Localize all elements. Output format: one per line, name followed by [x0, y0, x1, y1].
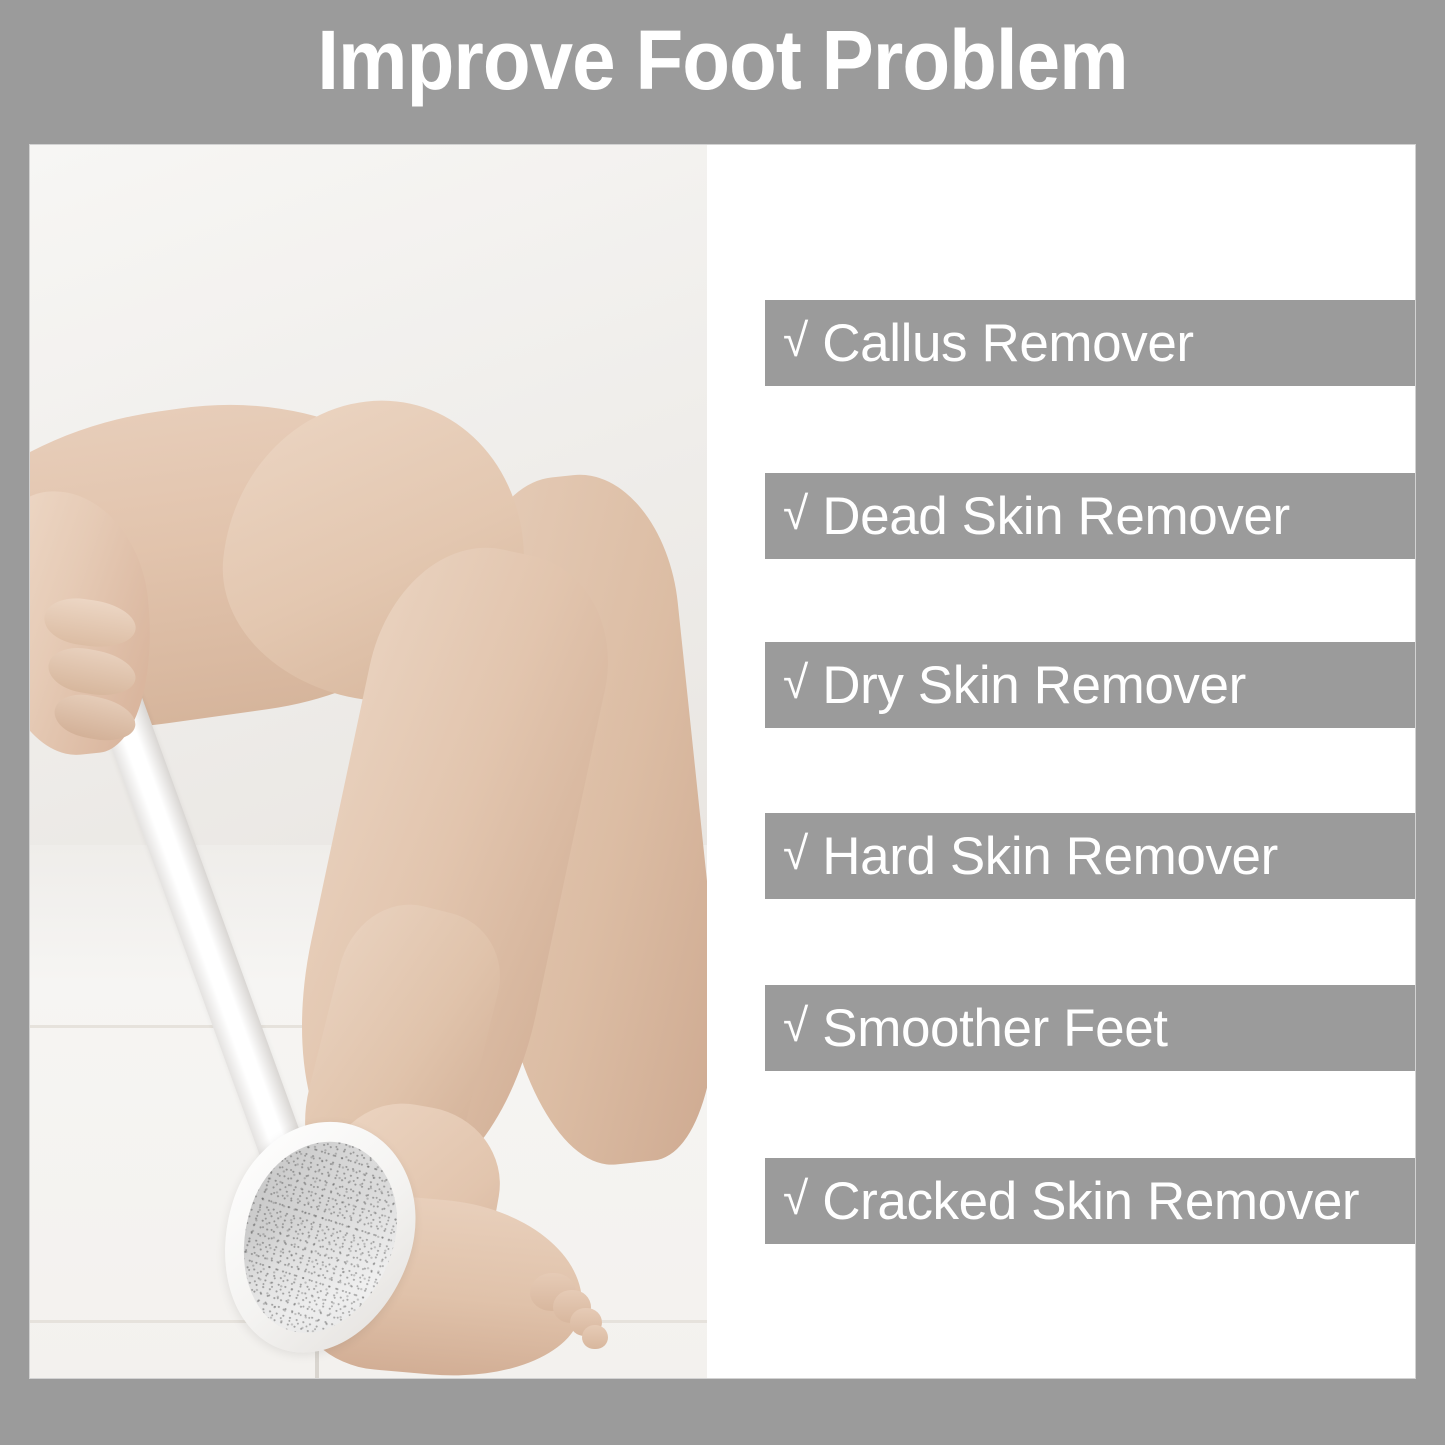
- content-card: √ Callus Remover √ Dead Skin Remover √ D…: [30, 145, 1415, 1378]
- feature-row-3[interactable]: √ Dry Skin Remover: [765, 642, 1415, 728]
- check-icon: √: [783, 1175, 808, 1221]
- feature-row-5[interactable]: √ Smoother Feet: [765, 985, 1415, 1071]
- toe: [582, 1325, 608, 1349]
- check-icon: √: [783, 1002, 808, 1048]
- product-photo: [30, 145, 707, 1378]
- feature-row-1[interactable]: √ Callus Remover: [765, 300, 1415, 386]
- feature-label: Smoother Feet: [822, 1002, 1167, 1055]
- check-icon: √: [783, 317, 808, 363]
- feature-row-6[interactable]: √ Cracked Skin Remover: [765, 1158, 1415, 1244]
- check-icon: √: [783, 490, 808, 536]
- infographic-page: Improve Foot Problem: [0, 0, 1445, 1445]
- feature-label: Hard Skin Remover: [822, 830, 1278, 883]
- check-icon: √: [783, 659, 808, 705]
- feature-label: Callus Remover: [822, 317, 1193, 370]
- feature-label: Dead Skin Remover: [822, 490, 1289, 543]
- feature-row-2[interactable]: √ Dead Skin Remover: [765, 473, 1415, 559]
- page-title: Improve Foot Problem: [51, 18, 1395, 102]
- check-icon: √: [783, 830, 808, 876]
- feature-label: Dry Skin Remover: [822, 659, 1246, 712]
- feature-list: √ Callus Remover √ Dead Skin Remover √ D…: [707, 145, 1415, 1378]
- feature-label: Cracked Skin Remover: [822, 1175, 1359, 1228]
- feature-row-4[interactable]: √ Hard Skin Remover: [765, 813, 1415, 899]
